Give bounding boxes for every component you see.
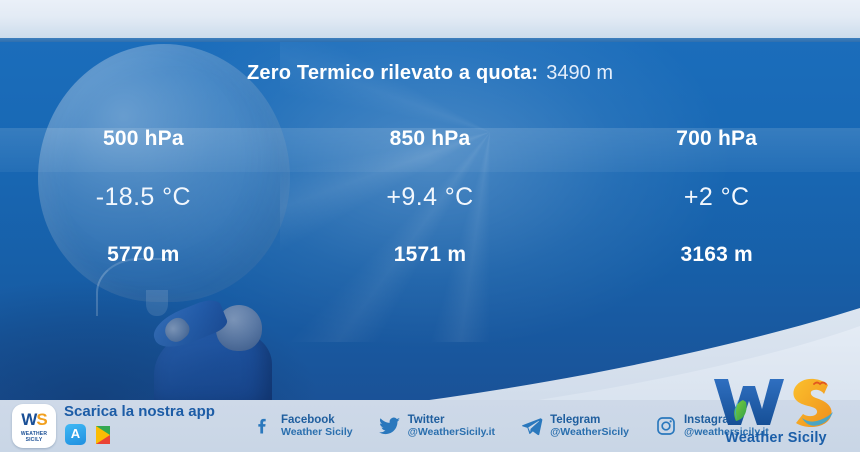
social-handle: @WeatherSicily.it	[408, 427, 495, 439]
ws-monogram-icon	[710, 376, 842, 428]
temperature-value: +2 °C	[573, 183, 860, 211]
social-name: Telegram	[550, 414, 629, 427]
weather-sounding-card: Fonte: University of Wyoming 08 aprile 2…	[0, 0, 860, 452]
person-arm	[148, 295, 229, 354]
person-hand	[161, 314, 194, 346]
google-play-badge[interactable]	[92, 424, 113, 445]
level-column-500: 500 hPa -18.5 °C 5770 m	[0, 128, 287, 267]
social-link-twitter[interactable]: Twitter @WeatherSicily.it	[379, 414, 495, 439]
social-name: Twitter	[408, 414, 495, 427]
zero-thermal-row: Zero Termico rilevato a quota:3490 m	[0, 62, 860, 85]
app-icon-caption: WEATHER SICILY	[12, 431, 56, 443]
social-text: Telegram @WeatherSicily	[550, 414, 629, 439]
pressure-label: 700 hPa	[573, 128, 860, 150]
app-promo-label: Scarica la nostra app	[64, 403, 215, 420]
level-column-700: 700 hPa +2 °C 3163 m	[573, 128, 860, 267]
twitter-icon	[379, 415, 401, 437]
social-text: Facebook Weather Sicily	[281, 414, 353, 439]
person-torso	[154, 330, 272, 410]
app-store-badge[interactable]	[65, 424, 86, 445]
pressure-label: 500 hPa	[0, 128, 287, 150]
zero-thermal-label: Zero Termico rilevato a quota:	[247, 62, 538, 84]
altitude-value: 1571 m	[287, 243, 574, 267]
telegram-icon	[521, 415, 543, 437]
app-download-block[interactable]: WS WEATHER SICILY Scarica la nostra app	[8, 402, 258, 448]
brand-caption: Weather Sicily	[702, 430, 850, 446]
altitude-value: 3163 m	[573, 243, 860, 267]
header-bar	[0, 0, 860, 38]
store-badges[interactable]	[65, 424, 113, 445]
social-text: Twitter @WeatherSicily.it	[408, 414, 495, 439]
social-link-facebook[interactable]: Facebook Weather Sicily	[252, 414, 353, 439]
header-divider	[0, 38, 860, 42]
social-name: Facebook	[281, 414, 353, 427]
facebook-icon	[252, 415, 274, 437]
person-head	[216, 305, 262, 351]
pressure-label: 850 hPa	[287, 128, 574, 150]
balloon-neck	[146, 290, 168, 316]
app-icon-s: S	[36, 410, 46, 429]
social-link-telegram[interactable]: Telegram @WeatherSicily	[521, 414, 629, 439]
instagram-icon	[655, 415, 677, 437]
weather-sicily-logo[interactable]: Weather Sicily	[702, 378, 850, 450]
level-column-850: 850 hPa +9.4 °C 1571 m	[287, 128, 574, 267]
balloon-launch-photo	[130, 288, 280, 410]
temperature-value: +9.4 °C	[287, 183, 574, 211]
altitude-value: 5770 m	[0, 243, 287, 267]
temperature-value: -18.5 °C	[0, 183, 287, 211]
zero-thermal-value: 3490 m	[546, 62, 613, 84]
app-icon-wordmark: WS	[12, 410, 56, 430]
social-handle: Weather Sicily	[281, 427, 353, 439]
app-icon[interactable]: WS WEATHER SICILY	[12, 404, 56, 448]
pressure-levels-table: 500 hPa -18.5 °C 5770 m 850 hPa +9.4 °C …	[0, 128, 860, 267]
social-handle: @WeatherSicily	[550, 427, 629, 439]
social-links: Facebook Weather Sicily Twitter @Weather…	[252, 408, 769, 444]
